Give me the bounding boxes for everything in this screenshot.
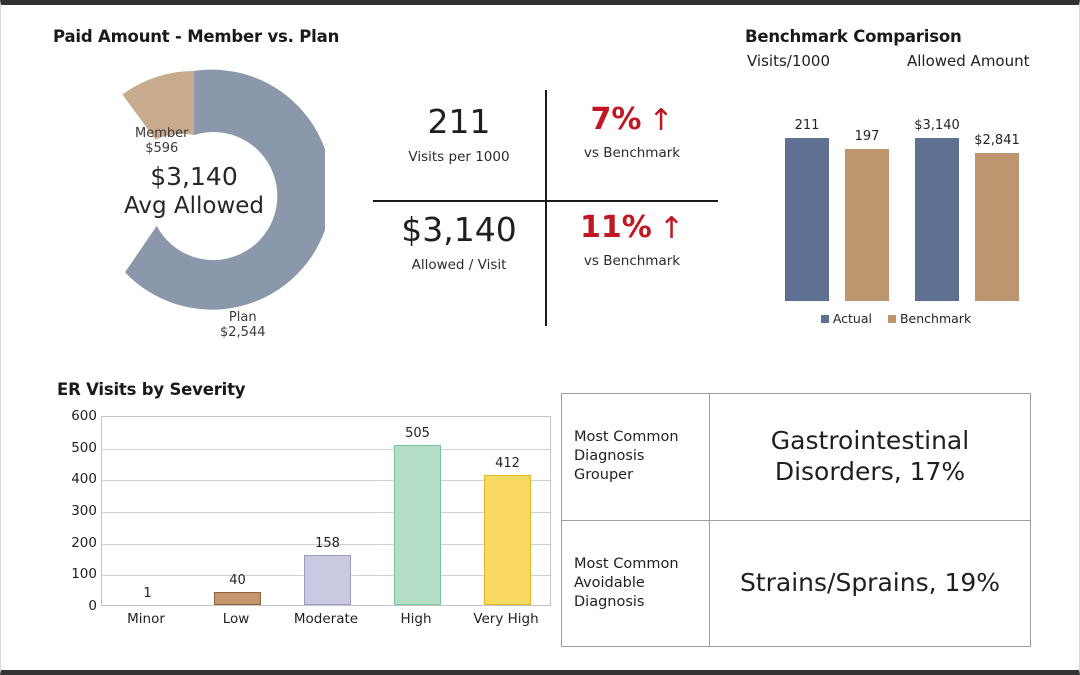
benchmark-comparison-panel: Benchmark Comparison Visits/1000 Allowed…: [741, 27, 1051, 352]
kpi-visits-per-1000-label: Visits per 1000: [373, 149, 545, 165]
er-visits-panel-title: ER Visits by Severity: [57, 380, 245, 399]
er-bar-high: [394, 445, 441, 605]
kpi-visits-delta-number: 7%: [590, 102, 641, 137]
benchmark-group-header-allowed: Allowed Amount: [907, 52, 1030, 70]
kpi-allowed-delta-number: 11%: [580, 210, 652, 245]
er-y-tick-label: 300: [53, 503, 97, 519]
kpi-allowed-per-visit-value: $3,140: [373, 212, 545, 248]
donut-label-member-name: Member: [135, 126, 188, 141]
diagnosis-summary-table: Most Common Diagnosis Grouper Gastrointe…: [561, 393, 1031, 647]
bench-bar-rect-actual-allowed: [915, 138, 959, 301]
benchmark-comparison-chart: 211 197 $3,140 $2,841 Actual: [741, 83, 1051, 326]
kpi-quadrant-panel: 211 Visits per 1000 7%↑ vs Benchmark $3,…: [373, 90, 718, 326]
table-row: Most Common Avoidable Diagnosis Strains/…: [562, 520, 1030, 647]
avoidable-diagnosis-value: Strains/Sprains, 19%: [710, 521, 1030, 647]
arrow-up-icon: ↑: [659, 211, 684, 246]
legend-label-actual: Actual: [833, 311, 872, 326]
donut-label-plan-value: $2,544: [220, 325, 266, 340]
donut-label-plan-name: Plan: [220, 310, 266, 325]
kpi-allowed-per-visit: $3,140 Allowed / Visit: [373, 212, 545, 273]
er-bar-very-high: [484, 475, 531, 605]
er-bar-moderate: [304, 555, 351, 605]
kpi-visits-vs-benchmark-label: vs Benchmark: [546, 145, 718, 161]
kpi-visits-vs-benchmark-value: 7%↑: [546, 104, 718, 136]
diagnosis-grouper-key: Most Common Diagnosis Grouper: [562, 394, 710, 520]
legend-item-benchmark: Benchmark: [888, 311, 971, 326]
arrow-up-icon: ↑: [648, 103, 673, 138]
er-y-tick-label: 100: [53, 566, 97, 582]
table-row: Most Common Diagnosis Grouper Gastrointe…: [562, 394, 1030, 520]
er-bar-value-label: 412: [460, 456, 555, 471]
er-bar-value-label: 505: [370, 426, 465, 441]
legend-swatch-actual: [821, 315, 829, 323]
bench-bar-rect-benchmark-visits: [845, 149, 889, 301]
kpi-allowed-vs-benchmark: 11%↑ vs Benchmark: [546, 212, 718, 269]
paid-amount-donut-chart: $3,140 Avg Allowed Member $596 Plan $2,5…: [63, 60, 325, 322]
bench-bar-rect-actual-visits: [785, 138, 829, 301]
bench-bar-label-actual-allowed: $3,140: [893, 118, 981, 133]
er-gridline: [102, 480, 550, 481]
kpi-allowed-vs-benchmark-label: vs Benchmark: [546, 253, 718, 269]
er-bar-value-label: 158: [280, 536, 375, 551]
donut-label-member: Member $596: [135, 126, 188, 157]
er-bar-low: [214, 592, 261, 605]
avoidable-diagnosis-key: Most Common Avoidable Diagnosis: [562, 521, 710, 647]
er-y-tick-label: 600: [53, 408, 97, 424]
kpi-allowed-per-visit-label: Allowed / Visit: [373, 257, 545, 273]
benchmark-legend: Actual Benchmark: [741, 311, 1051, 326]
kpi-visits-per-1000-value: 211: [373, 104, 545, 140]
paid-amount-panel-title: Paid Amount - Member vs. Plan: [53, 27, 339, 46]
kpi-allowed-vs-benchmark-value: 11%↑: [546, 212, 718, 244]
kpi-horizontal-divider: [373, 200, 718, 202]
er-plot-area: 140158505412: [101, 416, 551, 606]
legend-swatch-benchmark: [888, 315, 896, 323]
bench-bar-rect-benchmark-allowed: [975, 153, 1019, 301]
er-x-tick-label: Very High: [451, 611, 561, 627]
dashboard-canvas: Paid Amount - Member vs. Plan $3,140 Avg…: [0, 0, 1080, 675]
er-y-tick-label: 200: [53, 535, 97, 551]
er-y-tick-label: 500: [53, 440, 97, 456]
er-gridline: [102, 449, 550, 450]
kpi-visits-vs-benchmark: 7%↑ vs Benchmark: [546, 104, 718, 161]
benchmark-group-header-visits: Visits/1000: [747, 52, 830, 70]
donut-svg: [63, 60, 325, 322]
legend-item-actual: Actual: [821, 311, 872, 326]
donut-label-plan: Plan $2,544: [220, 310, 266, 341]
er-bar-value-label: 40: [190, 573, 285, 588]
benchmark-panel-title: Benchmark Comparison: [745, 27, 962, 46]
er-bar-value-label: 1: [100, 586, 195, 601]
legend-label-benchmark: Benchmark: [900, 311, 971, 326]
kpi-visits-per-1000: 211 Visits per 1000: [373, 104, 545, 165]
er-visits-chart: 0100200300400500600 140158505412 MinorLo…: [53, 410, 553, 655]
diagnosis-grouper-value: Gastrointestinal Disorders, 17%: [710, 394, 1030, 520]
er-gridline: [102, 512, 550, 513]
paid-amount-panel: Paid Amount - Member vs. Plan $3,140 Avg…: [53, 27, 353, 337]
er-y-tick-label: 400: [53, 471, 97, 487]
bench-bar-label-benchmark-allowed: $2,841: [953, 133, 1041, 148]
donut-label-member-value: $596: [135, 141, 188, 156]
er-visits-panel: ER Visits by Severity 010020030040050060…: [53, 380, 553, 655]
